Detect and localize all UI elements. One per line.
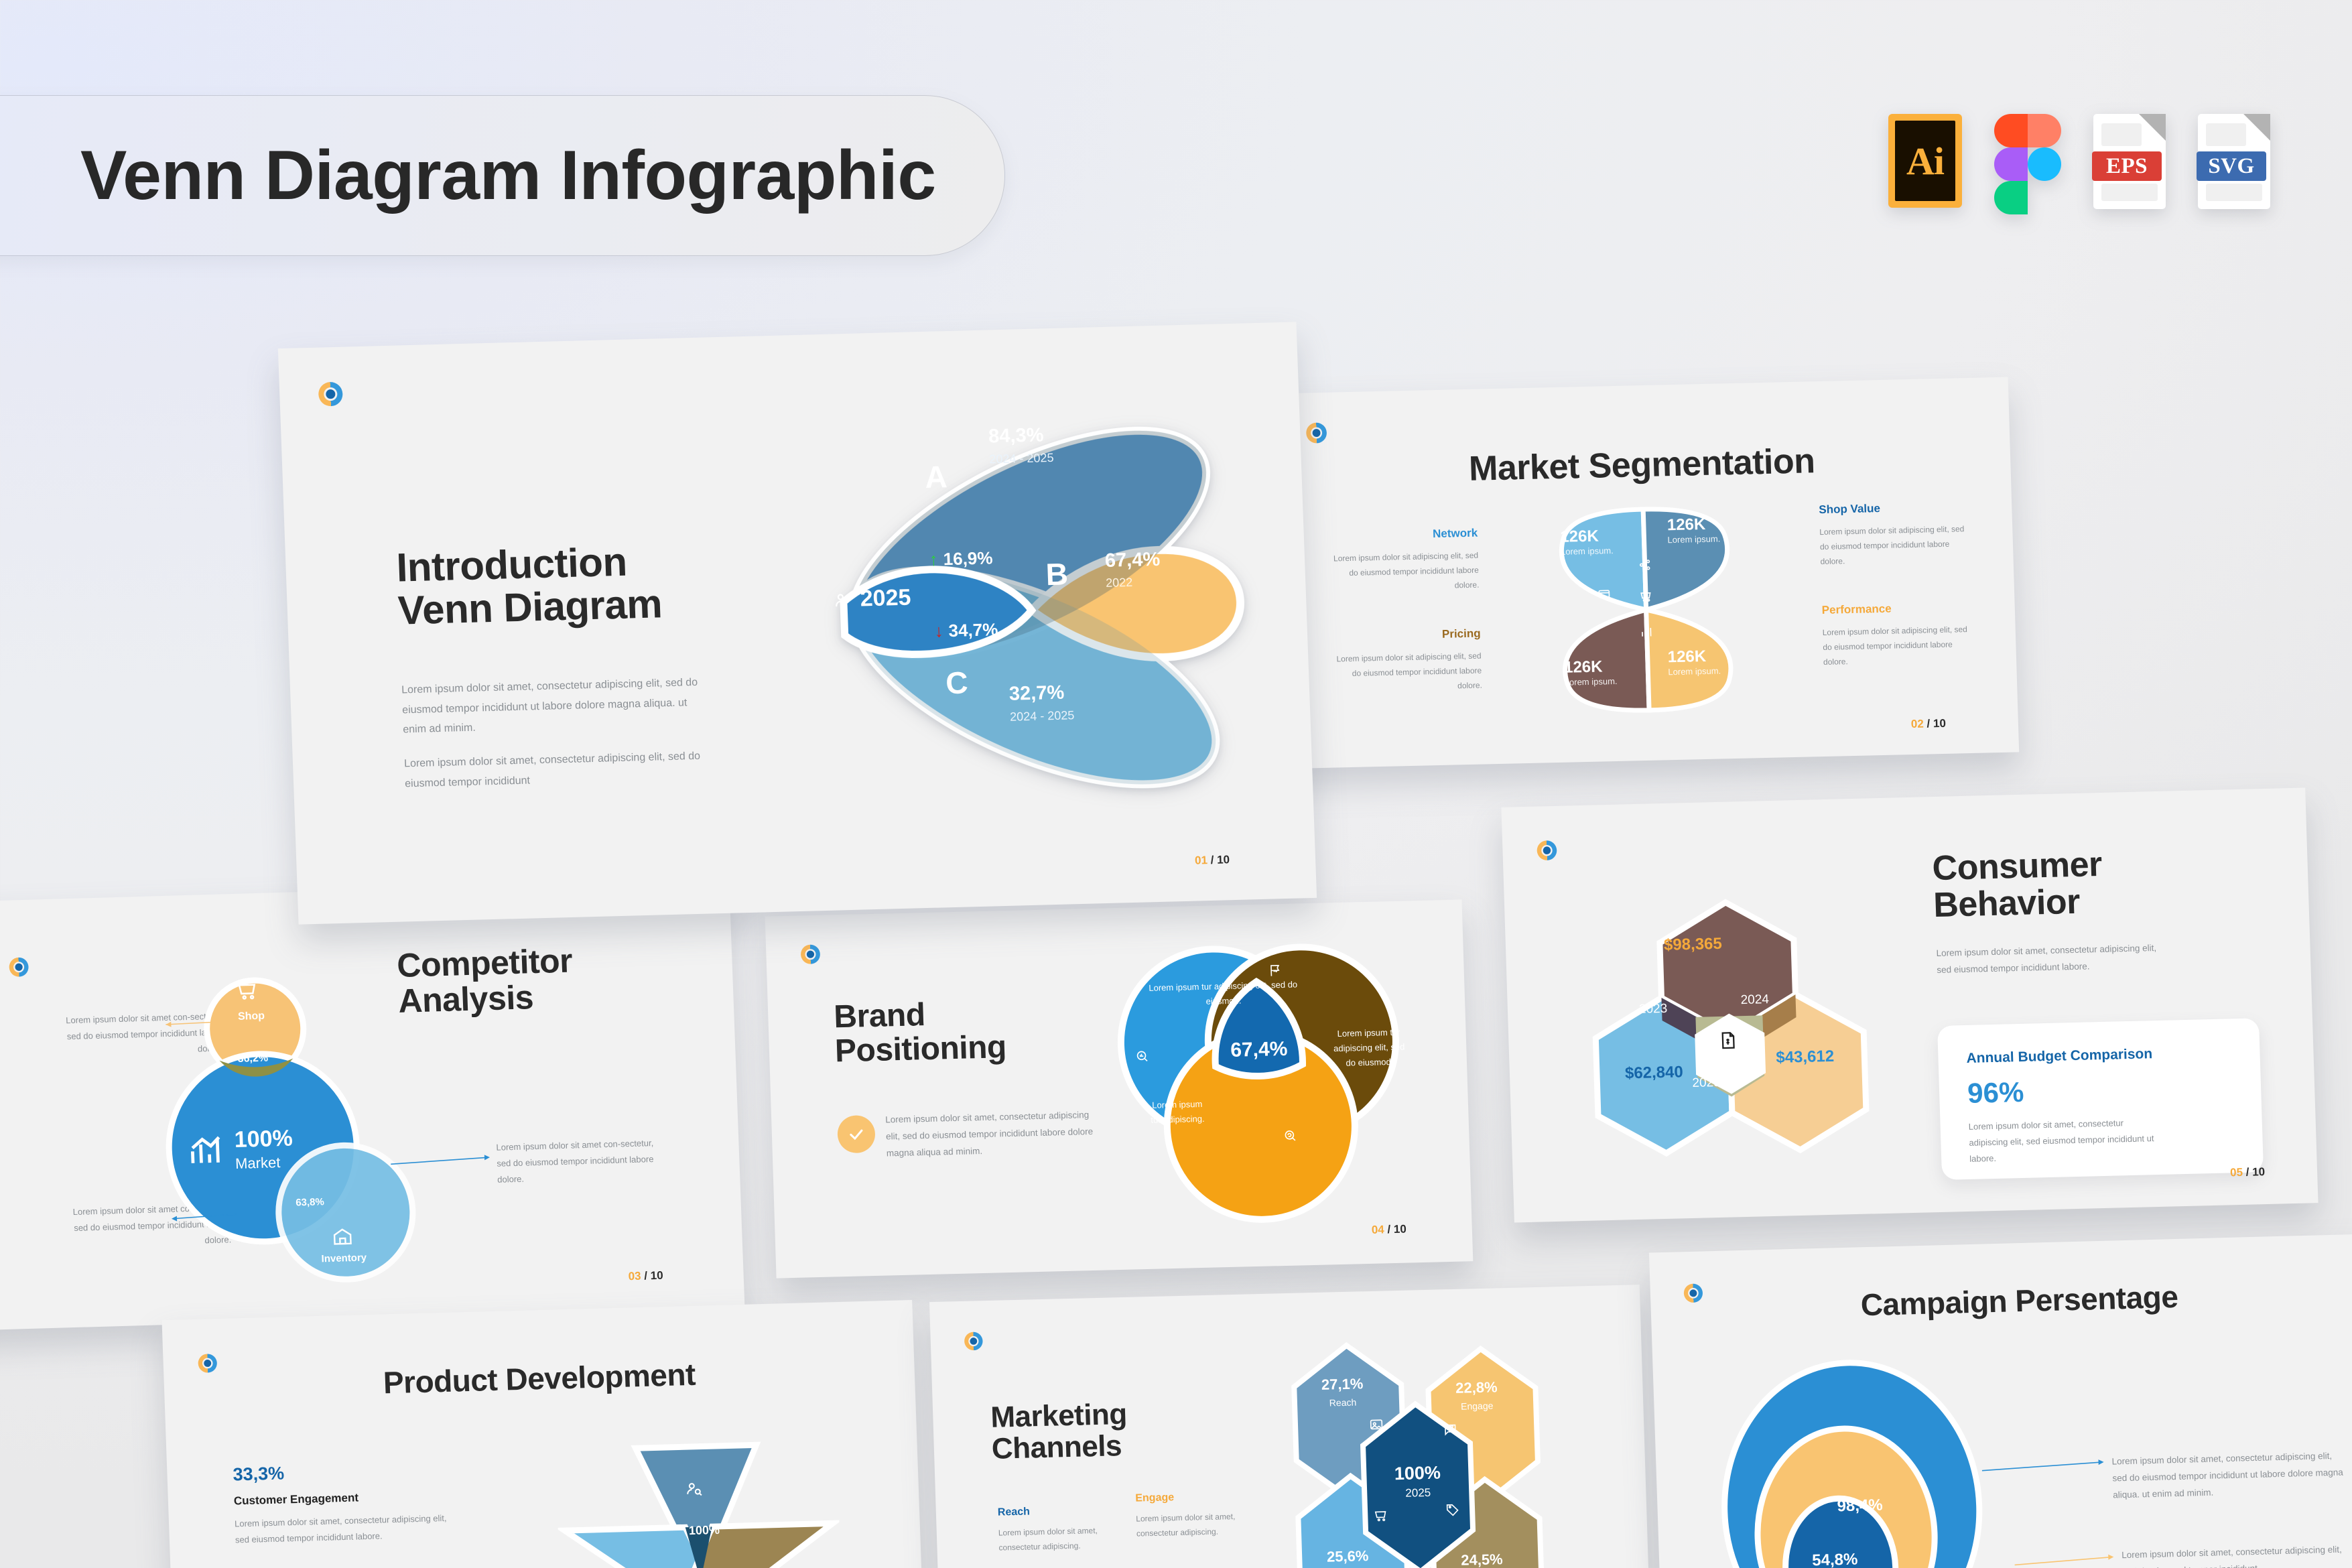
slide-brand-positioning[interactable]: Brand Positioning Lorem ipsum dolor sit … (765, 899, 1474, 1278)
image-icon (1369, 1417, 1384, 1433)
share-icon (1443, 1422, 1458, 1437)
page-title-pill: Venn Diagram Infographic (0, 95, 1005, 256)
hex-value-nurture: 25,6% (1321, 1547, 1375, 1566)
slide-body-text: Lorem ipsum dolor sit amet, consectetur … (1936, 940, 2158, 979)
search-refresh-icon (1283, 1128, 1298, 1144)
circle-label-inventory: Inventory (310, 1252, 378, 1265)
check-badge (837, 1115, 876, 1153)
slide-marketing-channels[interactable]: Marketing Channels Reach Lorem ipsum dol… (929, 1285, 1650, 1568)
venn-period-b: 2022 (1106, 576, 1133, 590)
ai-format-badge: Ai (1888, 114, 1962, 208)
slide-campaign-persentage[interactable]: Campaign Persentage 98,4% 54,8% 25,3% Lo… (1649, 1234, 2352, 1568)
arrow-down-icon: ↓ (934, 620, 943, 641)
petal-caption-3: Lorem ipsum. (1565, 676, 1618, 688)
venn-overlap-value-down: 34,7% (948, 619, 998, 641)
slide-title: Brand Positioning (834, 996, 1007, 1069)
page-indicator: 05 / 10 (2230, 1165, 2266, 1179)
ai-label: Ai (1895, 121, 1955, 201)
hex-center-sub: 2025 (1390, 1486, 1447, 1500)
svg-label: SVG (2197, 151, 2266, 181)
hex-center-value: 100% (1389, 1462, 1446, 1484)
slide-body-text: Lorem ipsum dolor sit amet, consectetur … (885, 1107, 1094, 1162)
ring-text-middle: Lorem ipsum dolor sit amet, consectetur … (2121, 1541, 2352, 1568)
triangle-center-value: 100% (689, 1523, 720, 1538)
slide-product-development[interactable]: Product Development 33,3% Customer Engag… (161, 1300, 923, 1568)
petal-value-2: 126K (1667, 515, 1721, 535)
add-user-icon (833, 590, 854, 608)
figma-shape-bl (1994, 181, 2028, 214)
circle-value-market: 100% (234, 1126, 293, 1153)
venn-value-c: 32,7% (1008, 682, 1064, 706)
eps-format-badge: EPS (2093, 114, 2166, 209)
brand-logo-icon (964, 1331, 983, 1350)
card-value: 96% (1967, 1076, 2024, 1110)
slide-paragraph-1: Lorem ipsum dolor sit amet, consectetur … (401, 672, 712, 740)
brand-text-brown: Lorem ipsum tur adipiscing elit, sed do … (1331, 1025, 1407, 1071)
bar-chart-icon (185, 1128, 226, 1170)
nested-rings-graphic (1713, 1351, 2004, 1568)
hex-label-engage: Engage (1450, 1400, 1504, 1412)
petal-caption-1: Lorem ipsum. (1561, 545, 1614, 557)
ring-value-middle: 54,8% (1812, 1551, 1858, 1568)
tag-icon (1445, 1502, 1461, 1518)
slide-title: Consumer Behavior (1932, 846, 2104, 924)
figma-shape-ml (1994, 147, 2028, 181)
petal-value-3: 126K (1564, 657, 1618, 677)
slide-title: Product Development (164, 1352, 915, 1405)
stat-value-1: 33,3% (233, 1459, 448, 1486)
hex-value-2: $62,840 (1625, 1063, 1684, 1083)
analytics-search-icon (1134, 1049, 1150, 1065)
brand-venn-graphic (1098, 927, 1415, 1243)
venn-period-a: 2024 - 2025 (989, 451, 1054, 467)
venn-letter-b: B (1045, 556, 1069, 592)
slide-title: Campaign Persentage (1650, 1275, 2352, 1327)
venn-value-b: 67,4% (1104, 549, 1160, 572)
petal-caption-4: Lorem ipsum. (1668, 665, 1721, 677)
callout-text-2: Lorem ipsum dolor sit amet con-sectetur,… (496, 1135, 659, 1188)
legend-text-reach: Lorem ipsum dolor sit amet, consectetur … (998, 1522, 1126, 1555)
stat-text-1: Lorem ipsum dolor sit amet, consectetur … (235, 1510, 450, 1549)
circle-label-shop: Shop (231, 1010, 272, 1023)
venn-letter-c: C (945, 664, 968, 701)
legend-label-engage: Engage (1135, 1490, 1263, 1505)
slide-market-segmentation[interactable]: Market Segmentation Network Lorem ipsum … (1271, 377, 2019, 769)
warehouse-icon (332, 1226, 354, 1248)
page-indicator: 03 / 10 (628, 1269, 663, 1283)
card-title: Annual Budget Comparison (1966, 1046, 2152, 1067)
hex-year-2023: 2023 (1639, 1002, 1668, 1017)
hex-value-reach: 27,1% (1315, 1375, 1370, 1394)
petal-caption-2: Lorem ipsum. (1667, 533, 1720, 545)
petal-value-1: 126K (1560, 527, 1614, 547)
arrow-up-icon: ↑ (929, 549, 938, 570)
circle-label-market: Market (235, 1154, 281, 1173)
slide-title: Marketing Channels (990, 1399, 1128, 1465)
check-icon (846, 1124, 866, 1144)
hex-year-2025: 2025 (1692, 1075, 1721, 1091)
eps-label: EPS (2092, 151, 2162, 181)
slide-competitor-analysis[interactable]: Competitor Analysis Lorem ipsum dolor si… (0, 880, 744, 1332)
card-text: Lorem ipsum dolor sit amet, consectetur … (1968, 1114, 2164, 1167)
network-icon (1638, 558, 1652, 572)
figma-format-badge (1994, 114, 2061, 214)
brand-logo-icon (9, 957, 29, 977)
segment-text-performance: Lorem ipsum dolor sit adipiscing elit, s… (1822, 622, 1977, 670)
brand-logo-icon (1306, 422, 1327, 443)
annual-budget-card[interactable]: Annual Budget Comparison 96% Lorem ipsum… (1937, 1018, 2264, 1180)
petal-value-4: 126K (1667, 647, 1721, 667)
brand-text-blue: Lorem ipsum tur adipiscing elit, sed do … (1146, 977, 1301, 1010)
overlap-value-2: 63,8% (296, 1196, 324, 1208)
segment-text-shop-value: Lorem ipsum dolor sit adipiscing elit, s… (1819, 521, 1975, 570)
brand-logo-icon (1537, 840, 1557, 860)
slide-title: Introduction Venn Diagram (396, 539, 663, 631)
segment-text-pricing: Lorem ipsum dolor sit adipiscing elit, s… (1327, 649, 1482, 697)
triangle-venn-graphic (555, 1436, 844, 1568)
segment-label-pricing: Pricing (1326, 627, 1481, 644)
segment-text-network: Lorem ipsum dolor sit adipiscing elit, s… (1324, 548, 1480, 596)
venn-value-a: 84,3% (988, 424, 1044, 448)
flag-chart-icon (1268, 963, 1283, 978)
legend-label-reach: Reach (998, 1504, 1126, 1519)
format-badge-group: Ai EPS SVG (1888, 114, 2270, 214)
legend-text-engage: Lorem ipsum dolor sit amet, consectetur … (1136, 1508, 1264, 1541)
venn-period-c: 2024 - 2025 (1010, 708, 1075, 724)
chart-icon (1640, 625, 1654, 639)
ring-value-outer: 98,4% (1837, 1496, 1883, 1516)
brand-text-orange: Lorem ipsum tur adipiscing. (1146, 1097, 1208, 1128)
overlap-value-1: 36,2% (233, 1052, 273, 1065)
competitor-circles-graphic (115, 941, 476, 1299)
hex-value-engage: 22,8% (1449, 1378, 1504, 1397)
venn-center-label: 2025 (860, 585, 911, 612)
segment-label-performance: Performance (1821, 600, 1976, 617)
slide-paragraph-2: Lorem ipsum dolor sit amet, consectetur … (404, 746, 714, 793)
hex-year-2024: 2024 (1740, 992, 1769, 1008)
brand-center-value: 67,4% (1230, 1038, 1288, 1062)
cart-icon (1639, 590, 1653, 603)
card-icon (1597, 587, 1612, 600)
brand-logo-icon (318, 382, 343, 407)
marketing-hex-graphic (1266, 1327, 1570, 1568)
cart-icon (1373, 1508, 1388, 1523)
venn-letter-a: A (924, 458, 948, 495)
figma-shape-tr (2028, 114, 2061, 147)
segment-label-shop-value: Shop Value (1819, 500, 1973, 517)
hex-value-1: $98,365 (1664, 935, 1723, 955)
brand-logo-icon (198, 1354, 217, 1373)
ring-text-outer: Lorem ipsum dolor sit amet, consectetur … (2111, 1447, 2347, 1504)
page-title: Venn Diagram Infographic (80, 141, 936, 210)
segment-label-network: Network (1323, 527, 1478, 543)
hex-value-3: $43,612 (1776, 1047, 1835, 1067)
hex-value-convert: 24,5% (1455, 1551, 1509, 1568)
slide-introduction-venn-diagram[interactable]: Introduction Venn Diagram Lorem ipsum do… (278, 322, 1317, 924)
user-search-icon (685, 1480, 703, 1498)
page-indicator: 02 / 10 (1911, 717, 1947, 731)
page-indicator: 01 / 10 (1195, 853, 1230, 867)
invoice-icon (1717, 1029, 1738, 1051)
stat-label-1: Customer Engagement (234, 1489, 449, 1508)
slide-consumer-behavior[interactable]: Consumer Behavior Lorem ipsum dolor sit … (1501, 787, 2318, 1222)
venn-overlap-value-up: 16,9% (943, 547, 993, 570)
cart-icon (235, 979, 259, 1002)
slide-title: Market Segmentation (1273, 439, 2011, 493)
hex-label-reach: Reach (1316, 1396, 1370, 1409)
page-indicator: 04 / 10 (1371, 1223, 1407, 1237)
figma-shape-mr (2028, 147, 2061, 181)
figma-shape-tl (1994, 114, 2028, 147)
svg-format-badge: SVG (2198, 114, 2270, 209)
brand-logo-icon (801, 944, 821, 964)
